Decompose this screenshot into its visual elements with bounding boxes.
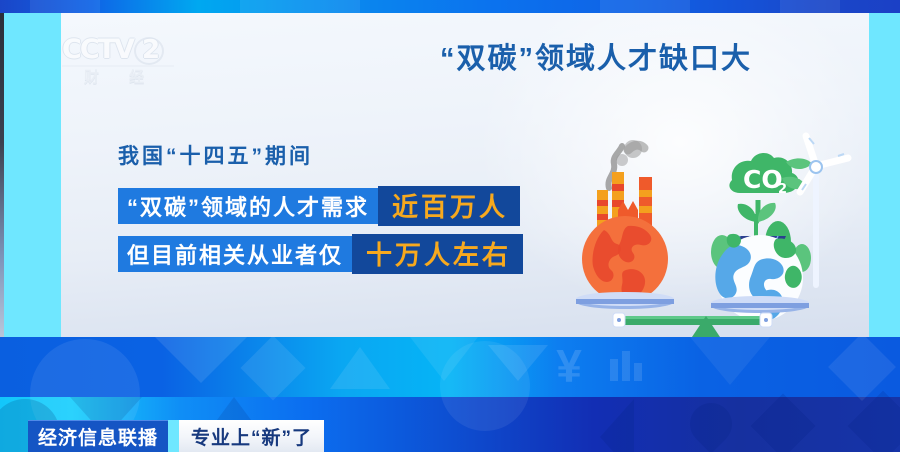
stat-row-demand: “双碳”领域的人才需求 近百万人 xyxy=(118,188,520,226)
page-title: “双碳”领域人才缺口大 xyxy=(440,40,840,78)
polluted-globe-icon xyxy=(582,216,668,302)
stat-value: 十万人左右 xyxy=(352,234,523,274)
right-cyan-rail xyxy=(869,13,900,337)
deco-triangle xyxy=(330,347,390,389)
stat-value: 近百万人 xyxy=(378,186,520,226)
logo-network-text: CCTV xyxy=(62,36,133,64)
stat-row-supply: 但目前相关从业者仅 十万人左右 xyxy=(118,236,523,274)
left-cyan-rail xyxy=(4,13,61,337)
deco-triangle xyxy=(600,399,634,452)
stat-label: “双碳”领域的人才需求 xyxy=(118,188,378,224)
deco-bar-chart-icon xyxy=(610,359,618,381)
top-decorative-band xyxy=(0,0,900,13)
program-name-badge: 经济信息联播 xyxy=(28,420,168,452)
logo-channel-number: 2 xyxy=(142,36,160,64)
logo-channel-name: 财 经 xyxy=(84,66,157,87)
deco-chevron-icon xyxy=(488,345,548,381)
lower-third-ticker: 经济信息联播 专业上“新”了 xyxy=(28,420,324,452)
svg-text:CO: CO xyxy=(743,165,783,194)
smoke-puff xyxy=(616,154,628,166)
deco-triangle xyxy=(155,337,247,383)
deco-yen-symbol: ¥ xyxy=(548,345,590,387)
scale-pan-right xyxy=(711,296,809,313)
carbon-balance-illustration: CO 2 xyxy=(560,130,860,337)
intro-line: 我国“十四五”期间 xyxy=(118,140,313,170)
stat-label: 但目前相关从业者仅 xyxy=(118,236,352,272)
cctv-channel-logo: CCTV 2 财 经 xyxy=(62,36,180,92)
deco-bar-chart-icon xyxy=(622,351,630,381)
topic-title: 专业上“新”了 xyxy=(179,420,324,452)
smoke-puff xyxy=(624,140,642,158)
deco-triangle xyxy=(690,337,770,385)
ticker-divider xyxy=(168,420,179,452)
broadcast-screen: CCTV 2 财 经 “双碳”领域人才缺口大 我国“十四五”期间 “双碳”领域的… xyxy=(0,0,900,452)
scale-pan-left xyxy=(576,292,674,309)
deco-bar-chart-icon xyxy=(634,363,642,381)
